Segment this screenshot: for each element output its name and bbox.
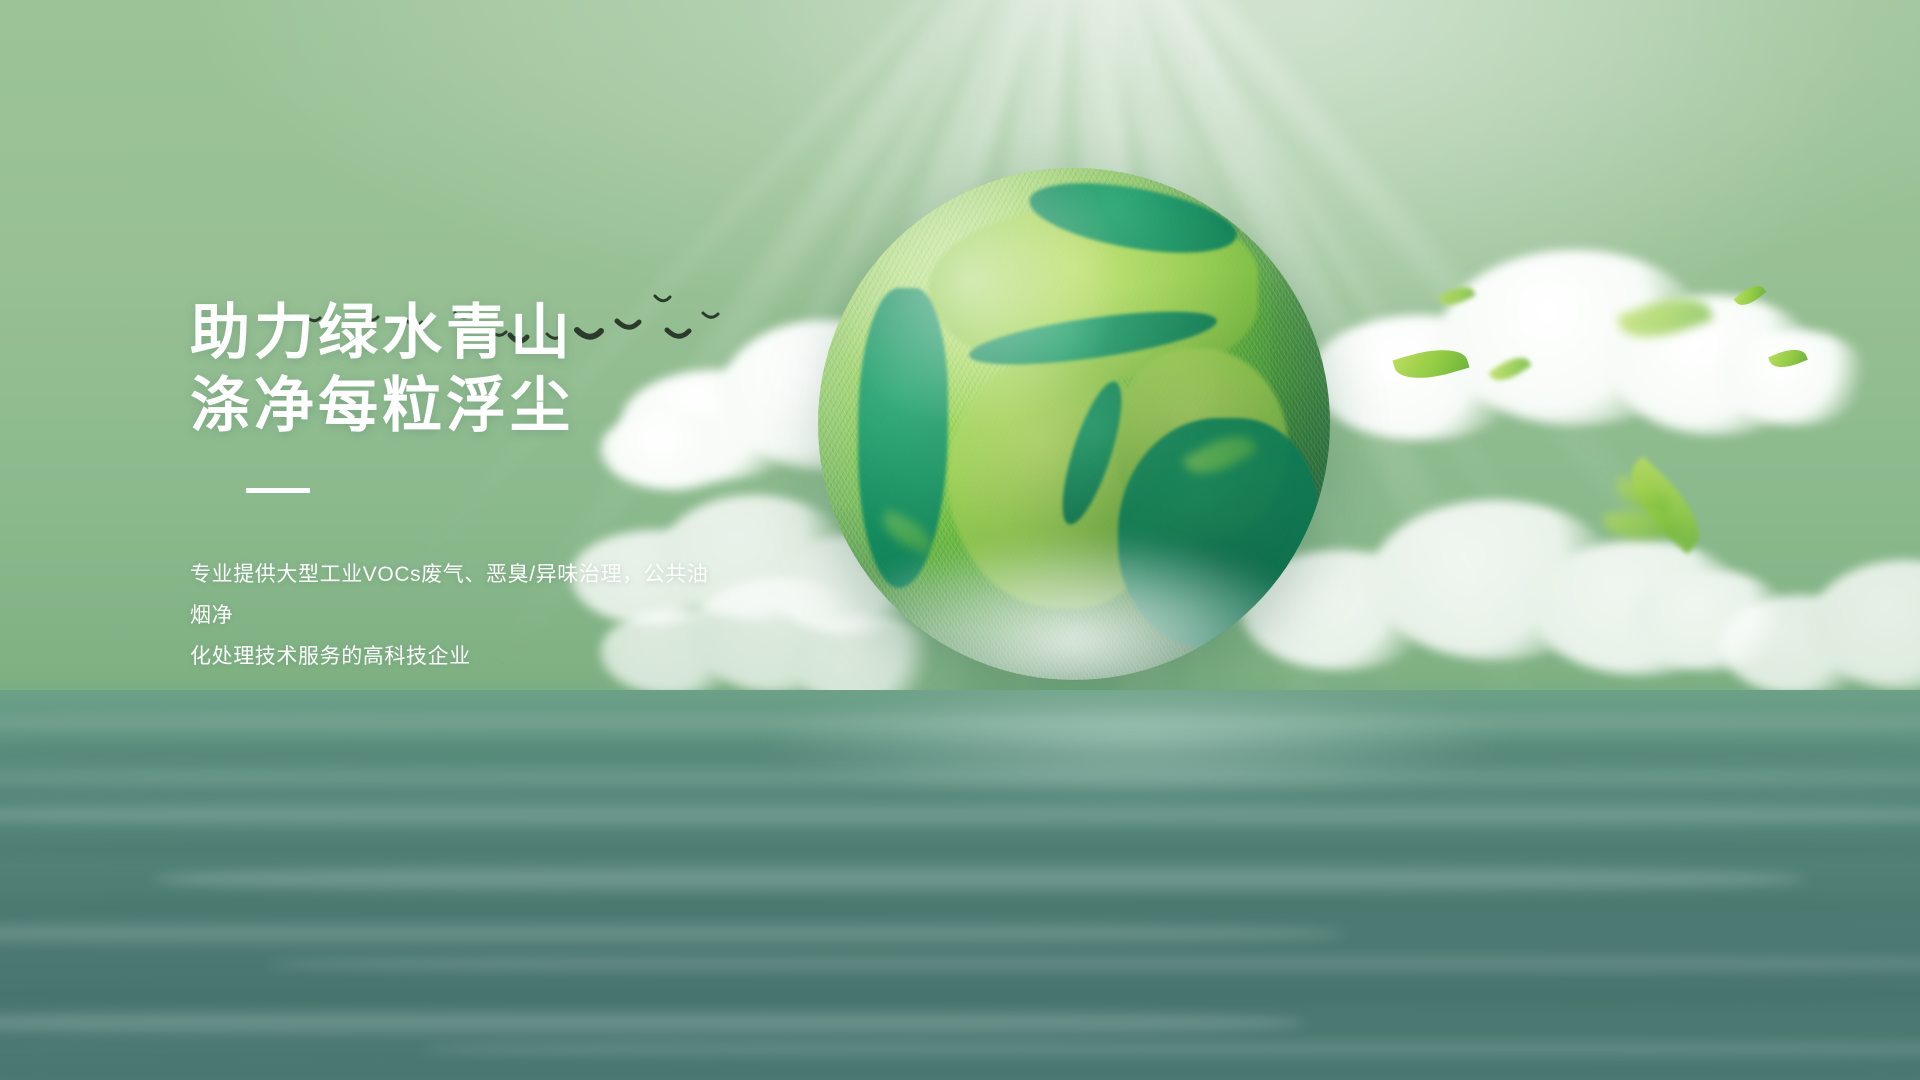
cloud-far-right <box>1720 540 1920 710</box>
leaf-4 <box>1734 280 1767 311</box>
leaf-1 <box>1438 281 1476 311</box>
headline-line-2: 涤净每粒浮尘 <box>190 369 890 442</box>
subtitle-line-2: 化处理技术服务的高科技企业 <box>190 637 730 678</box>
leaf-6 <box>1617 286 1714 351</box>
cloud-right <box>1290 225 1810 460</box>
hero-subtitle: 专业提供大型工业VOCs废气、恶臭/异味治理，公共油烟净 化处理技术服务的高科技… <box>190 555 730 678</box>
leaf-9 <box>1604 506 1677 543</box>
divider <box>246 488 310 493</box>
eco-hero-banner: 助力绿水青山 涤净每粒浮尘 专业提供大型工业VOCs废气、恶臭/异味治理，公共油… <box>0 0 1920 1080</box>
subtitle-line-1: 专业提供大型工业VOCs废气、恶臭/异味治理，公共油烟净 <box>190 555 730 637</box>
green-grass-earth-globe <box>818 168 1330 680</box>
leaf-3 <box>1488 350 1531 387</box>
leaf-5 <box>1768 344 1808 373</box>
headline-line-1: 助力绿水青山 <box>190 296 890 369</box>
globe-sphere <box>818 168 1330 680</box>
water-reflection <box>0 690 1920 1080</box>
leaf-7 <box>1615 456 1715 554</box>
leaf-8 <box>1613 476 1674 515</box>
page-title: 助力绿水青山 涤净每粒浮尘 <box>190 296 890 442</box>
leaf-2 <box>1393 341 1470 388</box>
hero-copy: 助力绿水青山 涤净每粒浮尘 专业提供大型工业VOCs废气、恶臭/异味治理，公共油… <box>190 296 890 678</box>
